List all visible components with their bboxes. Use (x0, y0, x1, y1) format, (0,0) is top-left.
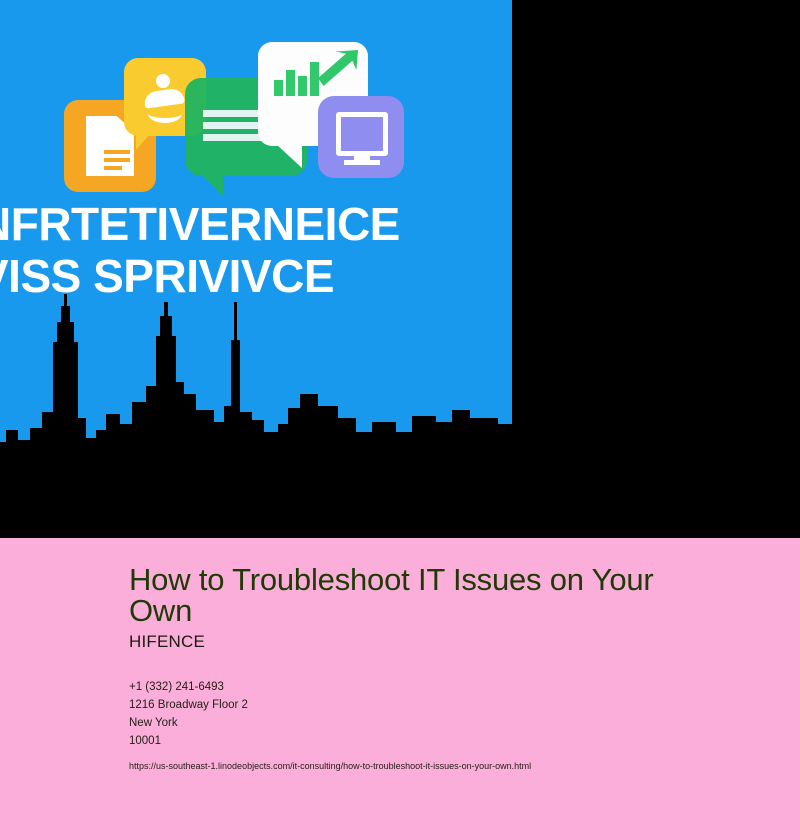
brand-name: HIFENCE (129, 632, 205, 652)
icon-cluster (60, 38, 400, 188)
growth-arrow-icon (318, 50, 358, 86)
content-block: How to Troubleshoot IT Issues on Your Ow… (0, 538, 800, 840)
message-line-3 (203, 134, 265, 141)
monitor-screen-shape (336, 112, 388, 156)
page-title: How to Troubleshoot IT Issues on Your Ow… (129, 564, 704, 626)
person-head-shape (156, 74, 170, 88)
city-skyline-silhouette (0, 282, 512, 512)
chart-bar-2 (286, 70, 295, 96)
contact-street: 1216 Broadway Floor 2 (129, 696, 749, 714)
person-glyph (144, 74, 188, 120)
page-root: NFRTETIVERNEICE VISS SPRIVIVCE How to Tr… (0, 0, 800, 840)
chart-bar-1 (274, 80, 283, 96)
contact-city: New York (129, 714, 749, 732)
document-line-3 (104, 166, 122, 170)
monitor-card-icon (318, 96, 404, 178)
chart-glyph (272, 54, 352, 96)
hero-image-block: NFRTETIVERNEICE VISS SPRIVIVCE (0, 0, 800, 538)
page-url-link[interactable]: https://us-southeast-1.linodeobjects.com… (129, 760, 531, 772)
document-line-2 (104, 158, 130, 162)
contact-info: +1 (332) 241-6493 1216 Broadway Floor 2 … (129, 678, 749, 750)
contact-phone: +1 (332) 241-6493 (129, 678, 749, 696)
document-line-1 (104, 150, 130, 154)
person-legs-shape (148, 104, 182, 123)
hero-overlay-text-line1: NFRTETIVERNEICE (0, 198, 400, 250)
monitor-base-shape (344, 160, 380, 165)
chart-bar-3 (298, 76, 307, 96)
chart-bar-4 (310, 62, 319, 96)
hero-artwork: NFRTETIVERNEICE VISS SPRIVIVCE (0, 0, 512, 512)
contact-zip: 10001 (129, 732, 749, 750)
